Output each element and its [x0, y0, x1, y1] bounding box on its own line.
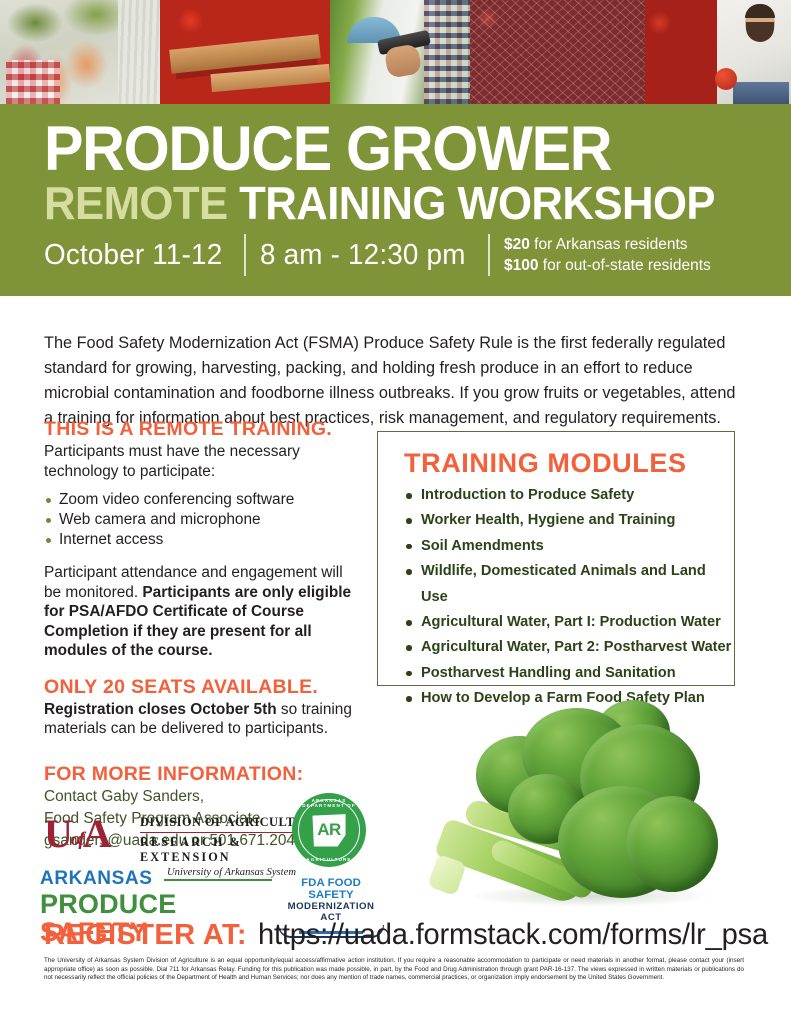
- watering-hose-photo: [330, 0, 470, 104]
- monitoring-paragraph: Participant attendance and engagement wi…: [44, 563, 360, 661]
- mesh-netting: [470, 0, 645, 104]
- price-out-state-amount: $100: [504, 257, 538, 274]
- list-item: Postharvest Handling and Sanitation: [404, 661, 734, 686]
- plaid-shirt: [424, 0, 470, 104]
- training-modules-list: Introduction to Produce Safety Worker He…: [378, 483, 734, 712]
- requirements-list: Zoom video conferencing software Web cam…: [44, 490, 360, 550]
- list-item: Web camera and microphone: [44, 510, 360, 530]
- flyer-title-line2: REMOTE TRAINING WORKSHOP: [44, 180, 715, 226]
- list-item: Internet access: [44, 530, 360, 550]
- list-item: Worker Health, Hygiene and Training: [404, 508, 734, 533]
- seal-monogram: AR: [317, 820, 341, 840]
- register-line: REGISTER AT: https://uada.formstack.com/…: [44, 918, 784, 952]
- training-modules-box: TRAINING MODULES Introduction to Produce…: [377, 431, 735, 686]
- fda-food-safety-modernization-act-logo: FDA FOOD SAFETY MODERNIZATION ACT: [277, 877, 385, 911]
- carrot-harvest-photo: [0, 0, 160, 104]
- list-item: Agricultural Water, Part 2: Postharvest …: [404, 635, 734, 660]
- arkansas-state-shape-icon: AR: [311, 812, 347, 848]
- list-item: Zoom video conferencing software: [44, 490, 360, 510]
- title-banner: PRODUCE GROWER REMOTE TRAINING WORKSHOP …: [0, 104, 791, 296]
- left-column: THIS IS A REMOTE TRAINING. Participants …: [44, 418, 360, 851]
- list-item: Soil Amendments: [404, 534, 734, 559]
- price-out-state-label: for out-of-state residents: [538, 257, 710, 274]
- seats-body: Registration closes October 5th so train…: [44, 700, 360, 739]
- event-times: 8 am - 12:30 pm: [260, 239, 466, 272]
- price-block: $20 for Arkansas residents $100 for out-…: [504, 234, 711, 276]
- arkansas-produce-safety-logo: ARKANSAS PRODUCE SAFETY: [40, 868, 276, 912]
- flyer-title-rest: TRAINING WORKSHOP: [228, 177, 715, 229]
- produce-sacks-photo: [470, 0, 645, 104]
- training-modules-title: TRAINING MODULES: [404, 448, 734, 479]
- flyer-title-remote-word: REMOTE: [44, 177, 228, 229]
- seats-section: ONLY 20 SEATS AVAILABLE. Registration cl…: [44, 676, 360, 739]
- flyer-title-line1: PRODUCE GROWER: [44, 118, 611, 181]
- price-in-state-label: for Arkansas residents: [530, 236, 688, 253]
- list-item: Wildlife, Domesticated Animals and Land …: [404, 559, 734, 610]
- event-dates: October 11-12: [44, 239, 222, 272]
- apron-stripes: [118, 0, 160, 104]
- broccoli-image: [430, 700, 760, 915]
- uofa-monogram: UofA: [44, 814, 110, 860]
- seal-inner-ring: AR: [298, 799, 360, 861]
- header-photo-strip: [0, 0, 791, 104]
- seats-heading: ONLY 20 SEATS AVAILABLE.: [44, 676, 360, 698]
- divider-1: [244, 234, 246, 276]
- uofa-a: A: [83, 811, 110, 856]
- farmer-jeans: [733, 82, 789, 104]
- register-url[interactable]: https://uada.formstack.com/forms/lr_psa: [258, 918, 768, 952]
- tomato-crate-photo: [160, 0, 330, 104]
- arkansas-department-of-agriculture-seal: ARKANSAS DEPARTMENT OF AGRICULTURE AR: [292, 793, 366, 867]
- date-time-price-bar: October 11-12 8 am - 12:30 pm $20 for Ar…: [44, 234, 711, 276]
- held-tomato: [715, 68, 737, 90]
- uofa-division-of-agriculture-logo: UofA DIVISION OF AGRICULTURE RESEARCH & …: [44, 812, 276, 864]
- contact-heading: FOR MORE INFORMATION:: [44, 763, 360, 785]
- divider-2: [488, 234, 490, 276]
- checkered-cloth: [6, 60, 60, 104]
- remote-training-heading: THIS IS A REMOTE TRAINING.: [44, 418, 360, 440]
- list-item: Agricultural Water, Part I: Production W…: [404, 610, 734, 635]
- flyer-page: PRODUCE GROWER REMOTE TRAINING WORKSHOP …: [0, 0, 791, 1024]
- intro-paragraph: The Food Safety Modernization Act (FSMA)…: [44, 331, 744, 431]
- price-in-state-amount: $20: [504, 236, 530, 253]
- aps-rule: [164, 879, 272, 881]
- registration-deadline: Registration closes October 5th: [44, 701, 277, 718]
- broccoli-floret: [626, 796, 718, 892]
- aps-produce-word: PRODUCE: [40, 889, 176, 919]
- legal-disclaimer: The University of Arkansas System Divisi…: [44, 957, 744, 983]
- fda-line1: FDA FOOD SAFETY: [277, 877, 385, 901]
- farmer-tomato-photo: [645, 0, 791, 104]
- remote-training-lead: Participants must have the necessary tec…: [44, 442, 360, 481]
- uofa-u: U: [44, 811, 71, 856]
- uofa-of: of: [71, 829, 83, 850]
- list-item: Introduction to Produce Safety: [404, 483, 734, 508]
- register-label: REGISTER AT:: [44, 919, 247, 952]
